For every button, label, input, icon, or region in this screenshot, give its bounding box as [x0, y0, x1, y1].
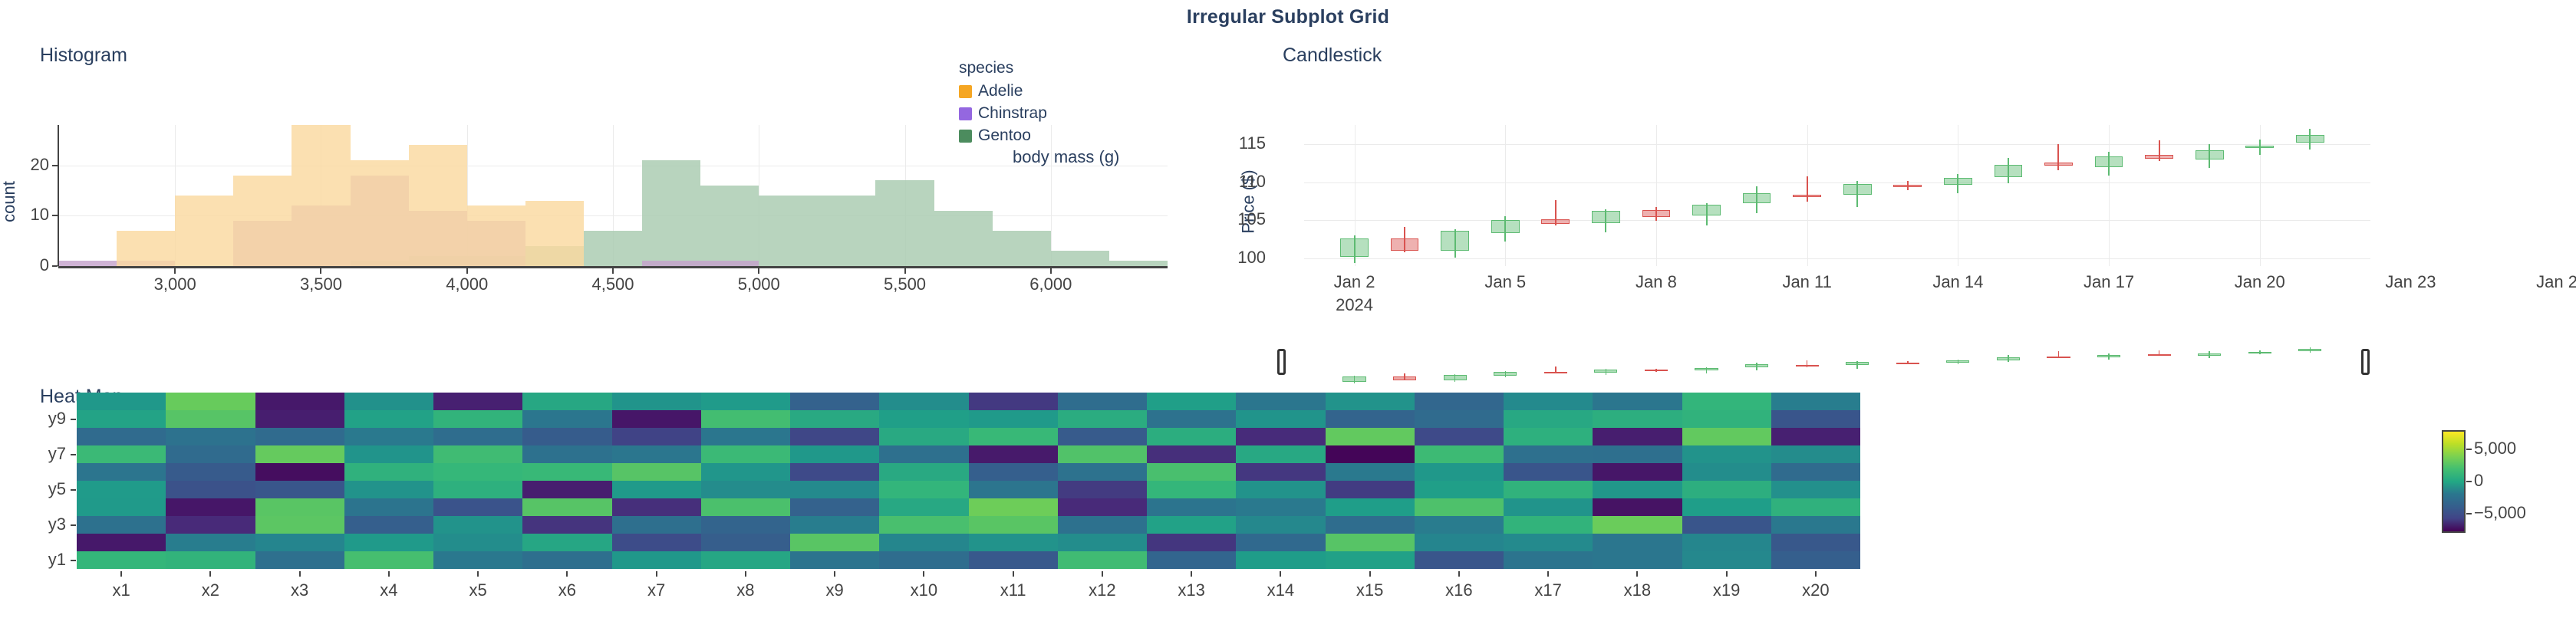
heatmap-cell[interactable]: [344, 445, 433, 463]
heatmap-cell[interactable]: [1771, 551, 1860, 569]
heatmap-cell[interactable]: [1236, 551, 1325, 569]
heatmap-cell[interactable]: [1682, 393, 1771, 410]
heatmap-cell[interactable]: [969, 393, 1058, 410]
heatmap-cell[interactable]: [1147, 428, 1236, 445]
histogram-x-tick-mark: [466, 268, 468, 274]
heatmap-cell[interactable]: [1415, 393, 1504, 410]
rangeslider-candle-body: [1494, 372, 1517, 376]
heatmap-cell[interactable]: [344, 516, 433, 534]
candlestick-x-tick-label: Jan 5: [1484, 272, 1526, 292]
heatmap-cell[interactable]: [77, 463, 166, 481]
rangeslider-candle-body: [1896, 363, 1919, 364]
heatmap-x-tick-label: x7: [647, 580, 665, 600]
heatmap-cell[interactable]: [1147, 498, 1236, 516]
heatmap-cell[interactable]: [1236, 393, 1325, 410]
heatmap-cell[interactable]: [1504, 481, 1593, 498]
heatmap-cell[interactable]: [433, 551, 522, 569]
candlestick-plot-area[interactable]: [1304, 125, 2370, 266]
heatmap-cell[interactable]: [1058, 481, 1147, 498]
candlestick-bar[interactable]: [1743, 125, 1771, 266]
histogram-x-tick-mark: [612, 268, 614, 274]
heatmap-cell[interactable]: [1593, 551, 1682, 569]
heatmap-cell[interactable]: [790, 498, 879, 516]
heatmap-cell[interactable]: [77, 481, 166, 498]
heatmap-cell[interactable]: [1236, 410, 1325, 428]
legend-swatch: [959, 107, 972, 120]
heatmap-cell[interactable]: [1147, 481, 1236, 498]
heatmap-cell[interactable]: [1236, 428, 1325, 445]
heatmap-cell[interactable]: [1593, 410, 1682, 428]
heatmap-cell[interactable]: [790, 428, 879, 445]
heatmap-cell[interactable]: [612, 445, 701, 463]
candlestick-bar[interactable]: [2145, 125, 2173, 266]
heatmap-cell[interactable]: [1326, 445, 1415, 463]
heatmap-cell[interactable]: [433, 516, 522, 534]
heatmap-cell[interactable]: [1415, 551, 1504, 569]
heatmap-cell[interactable]: [344, 534, 433, 551]
heatmap-cell[interactable]: [522, 445, 611, 463]
heatmap-cell[interactable]: [701, 445, 790, 463]
heatmap-cell[interactable]: [790, 445, 879, 463]
heatmap-cell[interactable]: [1771, 393, 1860, 410]
heatmap-cell[interactable]: [1504, 410, 1593, 428]
candle-body: [2044, 163, 2073, 166]
candlestick-bar[interactable]: [1692, 125, 1721, 266]
heatmap-cell[interactable]: [522, 428, 611, 445]
heatmap-cell[interactable]: [1682, 428, 1771, 445]
rangeslider-candle-body: [2148, 354, 2171, 356]
heatmap-y-tick-mark: [71, 524, 76, 526]
heatmap-cell[interactable]: [255, 481, 344, 498]
heatmap-cell[interactable]: [1504, 516, 1593, 534]
candle-body: [1491, 220, 1520, 233]
heatmap-cell[interactable]: [612, 551, 701, 569]
histogram-x-tick-mark: [904, 268, 906, 274]
heatmap-cell[interactable]: [522, 498, 611, 516]
rangeslider-handle-right[interactable]: [2361, 349, 2370, 375]
heatmap-cell[interactable]: [1058, 428, 1147, 445]
heatmap-cell[interactable]: [701, 463, 790, 481]
heatmap-cell[interactable]: [701, 428, 790, 445]
heatmap-cell[interactable]: [1504, 393, 1593, 410]
heatmap-cell[interactable]: [522, 393, 611, 410]
heatmap-x-tick-mark: [1458, 571, 1460, 577]
heatmap-cell[interactable]: [77, 445, 166, 463]
heatmap-cell[interactable]: [522, 551, 611, 569]
heatmap-cell[interactable]: [1147, 516, 1236, 534]
rangeslider-candle: [1946, 341, 1969, 387]
heatmap-cell[interactable]: [166, 428, 255, 445]
heatmap-cell[interactable]: [77, 410, 166, 428]
heatmap-cell[interactable]: [166, 481, 255, 498]
heatmap-x-tick-mark: [477, 571, 479, 577]
heatmap-cell[interactable]: [1236, 463, 1325, 481]
heatmap-y-tick-label: y5: [48, 479, 66, 499]
heatmap-cell[interactable]: [1326, 428, 1415, 445]
heatmap-cell[interactable]: [1326, 463, 1415, 481]
heatmap-cell[interactable]: [344, 498, 433, 516]
heatmap-cell[interactable]: [166, 498, 255, 516]
heatmap-cell[interactable]: [1326, 534, 1415, 551]
heatmap-cell[interactable]: [344, 393, 433, 410]
heatmap-cell[interactable]: [612, 498, 701, 516]
heatmap-cell[interactable]: [1593, 445, 1682, 463]
heatmap-cell[interactable]: [1147, 534, 1236, 551]
heatmap-cell[interactable]: [1415, 481, 1504, 498]
heatmap-cell[interactable]: [879, 534, 968, 551]
heatmap-cell[interactable]: [879, 393, 968, 410]
candlestick-bar[interactable]: [1441, 125, 1469, 266]
heatmap-cell[interactable]: [612, 516, 701, 534]
heatmap-cell[interactable]: [1415, 410, 1504, 428]
heatmap-cell[interactable]: [166, 410, 255, 428]
heatmap-cell[interactable]: [790, 463, 879, 481]
rangeslider-candle: [1846, 341, 1869, 387]
heatmap-cell[interactable]: [1771, 534, 1860, 551]
heatmap-cell[interactable]: [433, 534, 522, 551]
histogram-y-tick-mark: [52, 265, 58, 267]
heatmap-cell[interactable]: [1682, 551, 1771, 569]
candlestick-bar[interactable]: [2296, 125, 2324, 266]
rangeslider-candle-body: [1645, 370, 1668, 371]
heatmap-cell[interactable]: [344, 463, 433, 481]
heatmap-cell[interactable]: [1236, 481, 1325, 498]
heatmap-cell[interactable]: [969, 428, 1058, 445]
heatmap-cell[interactable]: [1415, 534, 1504, 551]
heatmap-cell[interactable]: [612, 481, 701, 498]
heatmap-x-tick-label: x6: [558, 580, 576, 600]
heatmap-cell[interactable]: [433, 498, 522, 516]
rangeslider-candle: [1896, 341, 1919, 387]
heatmap-cell[interactable]: [77, 551, 166, 569]
heatmap-x-tick-mark: [1280, 571, 1281, 577]
heatmap-x-tick-label: x12: [1089, 580, 1115, 600]
histogram-y-tick-label: 20: [31, 155, 49, 175]
heatmap-cell[interactable]: [1593, 534, 1682, 551]
heatmap-cell[interactable]: [1771, 498, 1860, 516]
heatmap-cell[interactable]: [969, 445, 1058, 463]
rangeslider-candle-body: [1594, 370, 1617, 373]
heatmap-cell[interactable]: [1504, 445, 1593, 463]
candlestick-bar[interactable]: [1642, 125, 1671, 266]
heatmap-x-tick-mark: [745, 571, 746, 577]
heatmap-cell[interactable]: [1682, 463, 1771, 481]
heatmap-cell[interactable]: [77, 428, 166, 445]
candlestick-x-tick-label: Jan 11: [1782, 272, 1831, 292]
heatmap-x-tick-label: x13: [1178, 580, 1204, 600]
candlestick-bar[interactable]: [2245, 125, 2274, 266]
heatmap-cell[interactable]: [1593, 393, 1682, 410]
heatmap-cell[interactable]: [344, 551, 433, 569]
heatmap-cell[interactable]: [879, 516, 968, 534]
heatmap-cell[interactable]: [612, 428, 701, 445]
candle-body: [1743, 193, 1771, 204]
heatmap-cell[interactable]: [1326, 551, 1415, 569]
heatmap-cell[interactable]: [1326, 516, 1415, 534]
heatmap-cell[interactable]: [1593, 463, 1682, 481]
heatmap-cell[interactable]: [433, 428, 522, 445]
candlestick-bar[interactable]: [1793, 125, 1821, 266]
rangeslider-candle: [2298, 341, 2321, 387]
heatmap-cell[interactable]: [433, 393, 522, 410]
heatmap-cell[interactable]: [1593, 481, 1682, 498]
heatmap-cell[interactable]: [1326, 410, 1415, 428]
heatmap-cell[interactable]: [1236, 516, 1325, 534]
heatmap-cell[interactable]: [701, 410, 790, 428]
heatmap-cell[interactable]: [1682, 410, 1771, 428]
heatmap-cell[interactable]: [790, 516, 879, 534]
candlestick-bar[interactable]: [2196, 125, 2224, 266]
heatmap-cell[interactable]: [1236, 534, 1325, 551]
heatmap-cell[interactable]: [879, 428, 968, 445]
candle-body: [1843, 184, 1872, 196]
heatmap-cell[interactable]: [1147, 393, 1236, 410]
heatmap-cell[interactable]: [1147, 551, 1236, 569]
heatmap-cell[interactable]: [1771, 481, 1860, 498]
candlestick-bar[interactable]: [1893, 125, 1922, 266]
heatmap-cell[interactable]: [879, 463, 968, 481]
heatmap-cell[interactable]: [1236, 498, 1325, 516]
heatmap-cell[interactable]: [522, 534, 611, 551]
heatmap-cell[interactable]: [969, 410, 1058, 428]
heatmap-cell[interactable]: [77, 516, 166, 534]
heatmap-y-tick-label: y7: [48, 444, 66, 464]
candlestick-bar[interactable]: [1995, 125, 2023, 266]
heatmap-cell[interactable]: [701, 481, 790, 498]
rangeslider-candle-body: [1946, 360, 1969, 362]
heatmap-cell[interactable]: [255, 463, 344, 481]
heatmap-cell[interactable]: [1504, 551, 1593, 569]
heatmap-cell[interactable]: [790, 481, 879, 498]
heatmap-cell[interactable]: [1147, 445, 1236, 463]
candle-body: [1793, 195, 1821, 197]
heatmap-cell[interactable]: [1504, 534, 1593, 551]
heatmap-cell[interactable]: [1147, 410, 1236, 428]
heatmap-cell[interactable]: [433, 481, 522, 498]
rangeslider-candle-body: [1997, 357, 2020, 360]
candle-body: [1340, 238, 1369, 257]
heatmap-cell[interactable]: [1771, 463, 1860, 481]
colorbar-tick-label: 0: [2474, 471, 2483, 491]
candlestick-bar[interactable]: [2044, 125, 2073, 266]
heatmap-x-tick-label: x15: [1356, 580, 1383, 600]
heatmap-cell[interactable]: [433, 445, 522, 463]
heatmap-cell[interactable]: [1058, 516, 1147, 534]
histogram-bar: [292, 125, 350, 266]
heatmap-cell[interactable]: [879, 498, 968, 516]
legend-item: Adelie: [959, 82, 1047, 100]
heatmap-x-tick-mark: [1013, 571, 1014, 577]
heatmap-cell[interactable]: [701, 534, 790, 551]
heatmap-cell[interactable]: [1771, 428, 1860, 445]
heatmap-x-tick-mark: [1369, 571, 1371, 577]
heatmap-cell[interactable]: [344, 481, 433, 498]
heatmap-cell[interactable]: [77, 393, 166, 410]
heatmap-x-tick-label: x9: [826, 580, 844, 600]
histogram-bar: [759, 196, 817, 266]
heatmap-cell[interactable]: [879, 445, 968, 463]
heatmap-cell[interactable]: [1415, 428, 1504, 445]
heatmap-cell[interactable]: [790, 410, 879, 428]
heatmap-cell[interactable]: [255, 428, 344, 445]
heatmap-cell[interactable]: [1504, 498, 1593, 516]
heatmap-cell[interactable]: [969, 534, 1058, 551]
heatmap-cell[interactable]: [1504, 463, 1593, 481]
heatmap-cell[interactable]: [790, 534, 879, 551]
heatmap-y-tick-label: y3: [48, 514, 66, 534]
colorbar-tick-label: −5,000: [2474, 503, 2526, 523]
heatmap-cell[interactable]: [255, 393, 344, 410]
rangeslider-candle: [2248, 341, 2271, 387]
heatmap-cell[interactable]: [701, 551, 790, 569]
heatmap-cell[interactable]: [701, 516, 790, 534]
heatmap-cell[interactable]: [790, 551, 879, 569]
heatmap-cell[interactable]: [701, 498, 790, 516]
rangeslider-candle: [2198, 341, 2221, 387]
heatmap-x-tick-mark: [923, 571, 924, 577]
heatmap-plot-area[interactable]: [77, 393, 1860, 569]
heatmap-cell[interactable]: [1682, 534, 1771, 551]
heatmap-cell[interactable]: [166, 516, 255, 534]
heatmap-cell[interactable]: [166, 551, 255, 569]
heatmap-cell[interactable]: [522, 481, 611, 498]
heatmap-cell[interactable]: [1504, 428, 1593, 445]
heatmap-cell[interactable]: [1058, 498, 1147, 516]
heatmap-cell[interactable]: [255, 516, 344, 534]
heatmap-cell[interactable]: [1682, 498, 1771, 516]
heatmap-cell[interactable]: [1593, 516, 1682, 534]
candle-body: [2245, 146, 2274, 148]
heatmap-x-tick-label: x16: [1445, 580, 1472, 600]
candlestick-bar[interactable]: [1391, 125, 1419, 266]
colorbar-tick-mark: [2466, 513, 2472, 514]
heatmap-x-tick-mark: [1191, 571, 1192, 577]
heatmap-cell[interactable]: [701, 393, 790, 410]
rangeslider-candle-body: [1342, 376, 1365, 381]
heatmap-cell[interactable]: [969, 481, 1058, 498]
heatmap-cell[interactable]: [1058, 393, 1147, 410]
heatmap-cell[interactable]: [790, 393, 879, 410]
heatmap-cell[interactable]: [522, 410, 611, 428]
candlestick-bar[interactable]: [2095, 125, 2123, 266]
heatmap-cell[interactable]: [433, 410, 522, 428]
candlestick-bar[interactable]: [1340, 125, 1369, 266]
heatmap-cell[interactable]: [1326, 393, 1415, 410]
heatmap-cell[interactable]: [77, 498, 166, 516]
histogram-bar: [584, 231, 642, 266]
heatmap-cell[interactable]: [77, 534, 166, 551]
candlestick-bar[interactable]: [1592, 125, 1620, 266]
heatmap-x-tick-mark: [656, 571, 657, 577]
heatmap-cell[interactable]: [969, 551, 1058, 569]
heatmap-cell[interactable]: [522, 516, 611, 534]
legend-item: Gentoo: [959, 127, 1047, 145]
heatmap-cell[interactable]: [1593, 498, 1682, 516]
heatmap-cell[interactable]: [1771, 445, 1860, 463]
heatmap-cell[interactable]: [1593, 428, 1682, 445]
heatmap-cell[interactable]: [612, 393, 701, 410]
heatmap-cell[interactable]: [1771, 410, 1860, 428]
figure-canvas: Irregular Subplot Grid Histogram count 0…: [0, 0, 2576, 618]
heatmap-y-tick-mark: [71, 454, 76, 455]
legend-title: species: [959, 59, 1047, 77]
rangeslider-handle-left[interactable]: [1277, 349, 1286, 375]
heatmap-cell[interactable]: [612, 534, 701, 551]
heatmap-cell[interactable]: [1415, 445, 1504, 463]
heatmap-cell[interactable]: [969, 498, 1058, 516]
heatmap-x-tick-label: x19: [1713, 580, 1740, 600]
histogram-x-tick-mark: [1050, 268, 1052, 274]
heatmap-cell[interactable]: [1058, 463, 1147, 481]
heatmap-cell[interactable]: [879, 481, 968, 498]
heatmap-cell[interactable]: [969, 463, 1058, 481]
candlestick-y-tick-label: 115: [1239, 133, 1266, 153]
histogram-x-tick-label: 3,000: [154, 274, 196, 294]
heatmap-y-tick-label: y1: [48, 550, 66, 570]
rangeslider-candle-body: [1393, 376, 1416, 380]
heatmap-cell[interactable]: [1415, 498, 1504, 516]
heatmap-cell[interactable]: [1058, 534, 1147, 551]
heatmap-cell[interactable]: [255, 445, 344, 463]
heatmap-cell[interactable]: [166, 445, 255, 463]
heatmap-cell[interactable]: [612, 463, 701, 481]
heatmap-cell[interactable]: [1326, 481, 1415, 498]
heatmap-x-tick-label: x1: [113, 580, 130, 600]
heatmap-x-tick-label: x14: [1267, 580, 1294, 600]
heatmap-cell[interactable]: [166, 463, 255, 481]
legend-item-label: Adelie: [978, 82, 1023, 100]
heatmap-cell[interactable]: [1682, 481, 1771, 498]
heatmap-cell[interactable]: [255, 498, 344, 516]
heatmap-cell[interactable]: [612, 410, 701, 428]
heatmap-cell[interactable]: [879, 551, 968, 569]
heatmap-cell[interactable]: [1058, 445, 1147, 463]
heatmap-cell[interactable]: [1058, 551, 1147, 569]
heatmap-cell[interactable]: [1415, 516, 1504, 534]
heatmap-cell[interactable]: [433, 463, 522, 481]
heatmap-cell[interactable]: [166, 393, 255, 410]
heatmap-cell[interactable]: [255, 551, 344, 569]
heatmap-cell[interactable]: [1415, 463, 1504, 481]
heatmap-cell[interactable]: [344, 410, 433, 428]
heatmap-cell[interactable]: [1058, 410, 1147, 428]
heatmap-cell[interactable]: [1147, 463, 1236, 481]
heatmap-cell[interactable]: [879, 410, 968, 428]
heatmap-cell[interactable]: [344, 428, 433, 445]
heatmap-cell[interactable]: [1682, 445, 1771, 463]
candle-body: [1592, 211, 1620, 223]
candlestick-rangeslider[interactable]: [1304, 341, 2370, 387]
heatmap-cell[interactable]: [166, 534, 255, 551]
heatmap-x-tick-label: x2: [202, 580, 219, 600]
heatmap-cell[interactable]: [1236, 445, 1325, 463]
heatmap-cell[interactable]: [255, 410, 344, 428]
heatmap-cell[interactable]: [1771, 516, 1860, 534]
candlestick-bar[interactable]: [1944, 125, 1972, 266]
candlestick-bar[interactable]: [1541, 125, 1570, 266]
heatmap-cell[interactable]: [255, 534, 344, 551]
candlestick-x-tick-label: Jan 2: [1334, 272, 1375, 292]
heatmap-cell[interactable]: [1326, 498, 1415, 516]
heatmap-cell[interactable]: [969, 516, 1058, 534]
candle-body: [1642, 210, 1671, 217]
heatmap-cell[interactable]: [1682, 516, 1771, 534]
heatmap-cell[interactable]: [522, 463, 611, 481]
heatmap-x-tick-label: x5: [469, 580, 487, 600]
histogram-bar: [117, 231, 175, 266]
candlestick-bar[interactable]: [1843, 125, 1872, 266]
candlestick-bar[interactable]: [1491, 125, 1520, 266]
